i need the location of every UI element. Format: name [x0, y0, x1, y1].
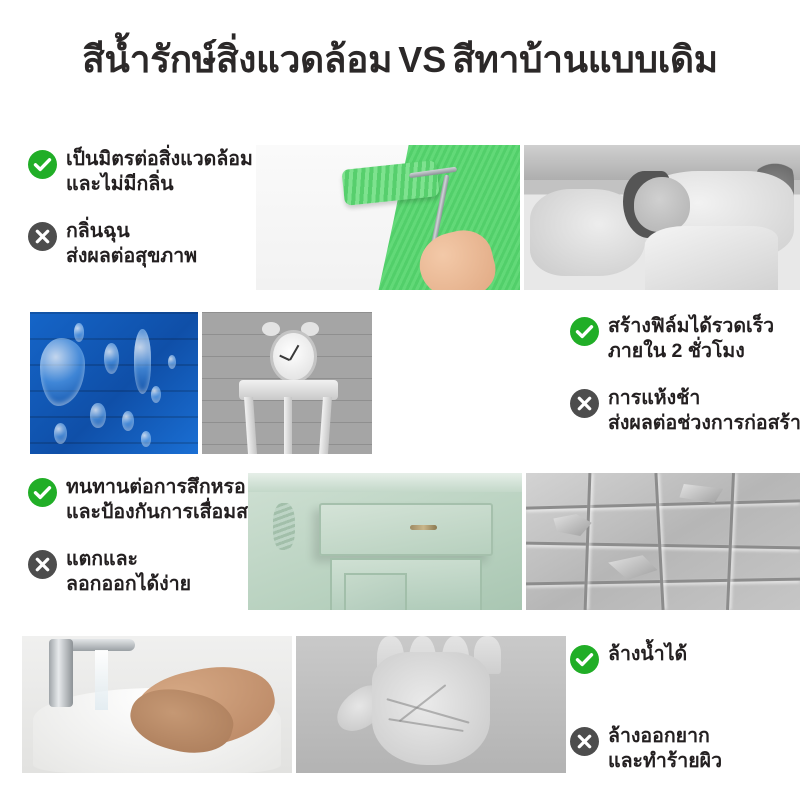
photo-cracked-paint	[526, 473, 800, 610]
cross-circle-icon	[28, 222, 57, 251]
row-odor-pro-line1: เป็นมิตรต่อสิ่งแวดล้อม	[66, 148, 253, 170]
row-odor-con-text: กลิ่นฉุน ส่งผลต่อสุขภาพ	[66, 219, 197, 269]
infographic-page: สีน้ำรักษ์สิ่งแวดล้อมVSสีทาบ้านแบบเดิม เ…	[0, 0, 800, 800]
title-left-text: สีน้ำรักษ์สิ่งแวดล้อม	[82, 39, 392, 80]
row-odor-pro-line2: และไม่มีกลิ่น	[66, 173, 174, 195]
row-drying-textblock: สร้างฟิล์มได้รวดเร็ว ภายใน 2 ชั่วโมง การ…	[570, 312, 800, 454]
row-odor-con-line2: ส่งผลต่อสุขภาพ	[66, 245, 197, 267]
photo-water-droplets	[30, 312, 198, 454]
row-washability-pro-text: ล้างน้ำได้	[608, 642, 687, 667]
row-drying-pro-line1: สร้างฟิล์มได้รวดเร็ว	[608, 315, 774, 337]
row-drying-con-line1: การแห้งช้า	[608, 387, 700, 409]
row-odor-con-claim: กลิ่นฉุน ส่งผลต่อสุขภาพ	[28, 219, 253, 269]
row-drying-con-claim: การแห้งช้า ส่งผลต่อช่วงการก่อสร้าง	[570, 386, 800, 436]
row-odor-photos	[256, 145, 800, 290]
photo-green-cabinet	[248, 473, 522, 610]
row-washability-con-line1: ล้างออกยาก	[608, 725, 710, 747]
comparison-row-drying: สร้างฟิล์มได้รวดเร็ว ภายใน 2 ชั่วโมง การ…	[0, 312, 800, 454]
check-circle-icon	[570, 645, 599, 674]
check-circle-icon	[570, 317, 599, 346]
row-odor-pro-claim: เป็นมิตรต่อสิ่งแวดล้อม และไม่มีกลิ่น	[28, 147, 253, 197]
row-durability-con-claim: แตกและ ลอกออกได้ง่าย	[28, 547, 258, 597]
row-odor-textblock: เป็นมิตรต่อสิ่งแวดล้อม และไม่มีกลิ่น กลิ…	[28, 145, 253, 290]
check-circle-icon	[28, 478, 57, 507]
photo-washing-hands	[22, 636, 292, 773]
cross-circle-icon	[570, 389, 599, 418]
row-drying-con-line2: ส่งผลต่อช่วงการก่อสร้าง	[608, 412, 800, 434]
row-drying-pro-text: สร้างฟิล์มได้รวดเร็ว ภายใน 2 ชั่วโมง	[608, 314, 774, 364]
row-durability-photos	[248, 473, 800, 610]
photo-woman-in-bed	[524, 145, 800, 290]
row-washability-con-text: ล้างออกยาก และทำร้ายผิว	[608, 724, 722, 774]
row-durability-pro-line1: ทนทานต่อการสึกหรอ	[66, 476, 246, 498]
row-washability-pro-claim: ล้างน้ำได้	[570, 642, 800, 674]
row-drying-con-text: การแห้งช้า ส่งผลต่อช่วงการก่อสร้าง	[608, 386, 800, 436]
row-drying-pro-claim: สร้างฟิล์มได้รวดเร็ว ภายใน 2 ชั่วโมง	[570, 314, 800, 364]
comparison-row-durability: ทนทานต่อการสึกหรอ และป้องกันการเสื่อมสภา…	[0, 473, 800, 610]
row-odor-con-line1: กลิ่นฉุน	[66, 220, 130, 242]
row-drying-photos	[30, 312, 372, 454]
check-circle-icon	[28, 150, 57, 179]
photo-alarm-clock-stool	[202, 312, 372, 454]
row-durability-pro-claim: ทนทานต่อการสึกหรอ และป้องกันการเสื่อมสภา…	[28, 475, 258, 525]
row-odor-pro-text: เป็นมิตรต่อสิ่งแวดล้อม และไม่มีกลิ่น	[66, 147, 253, 197]
title-vs-text: VS	[392, 39, 452, 80]
row-washability-photos	[22, 636, 566, 773]
row-drying-pro-line2: ภายใน 2 ชั่วโมง	[608, 340, 745, 362]
row-durability-con-line1: แตกและ	[66, 548, 138, 570]
row-washability-pro-line1: ล้างน้ำได้	[608, 643, 687, 665]
row-durability-con-text: แตกและ ลอกออกได้ง่าย	[66, 547, 191, 597]
row-washability-textblock: ล้างน้ำได้ ล้างออกยาก และทำร้ายผิว	[570, 636, 800, 773]
comparison-row-odor: เป็นมิตรต่อสิ่งแวดล้อม และไม่มีกลิ่น กลิ…	[0, 145, 800, 290]
comparison-row-washability: ล้างน้ำได้ ล้างออกยาก และทำร้ายผิว	[0, 636, 800, 773]
page-title: สีน้ำรักษ์สิ่งแวดล้อมVSสีทาบ้านแบบเดิม	[0, 38, 800, 82]
photo-dry-palm	[296, 636, 566, 773]
row-durability-textblock: ทนทานต่อการสึกหรอ และป้องกันการเสื่อมสภา…	[28, 473, 258, 610]
photo-green-paint-roller	[256, 145, 520, 290]
cross-circle-icon	[570, 727, 599, 756]
row-washability-con-claim: ล้างออกยาก และทำร้ายผิว	[570, 724, 800, 774]
title-right-text: สีทาบ้านแบบเดิม	[452, 39, 718, 80]
row-washability-con-line2: และทำร้ายผิว	[608, 750, 722, 772]
cross-circle-icon	[28, 550, 57, 579]
row-durability-con-line2: ลอกออกได้ง่าย	[66, 573, 191, 595]
